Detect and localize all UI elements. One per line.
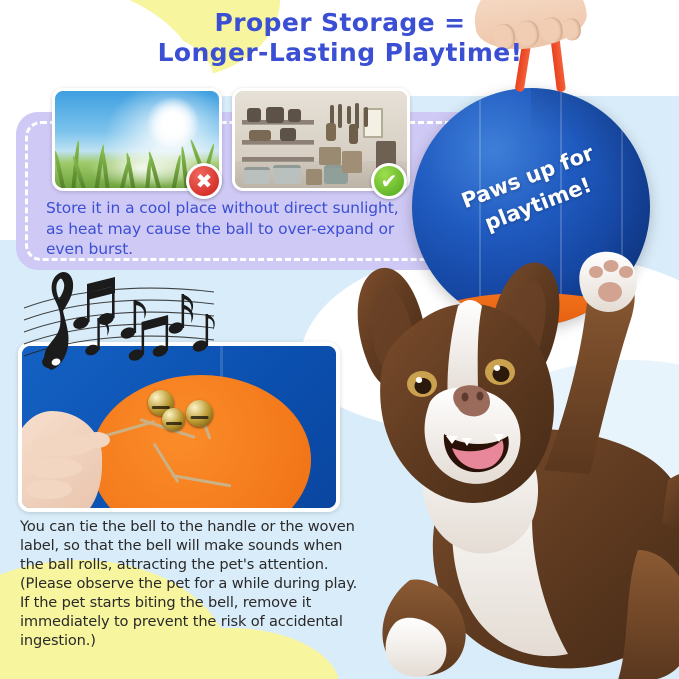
jumping-dog-photo xyxy=(318,250,679,679)
bell-icon-2 xyxy=(162,408,185,431)
page-title: Proper Storage = Longer-Lasting Playtime… xyxy=(120,8,560,67)
bell-icon-3 xyxy=(186,400,213,427)
page-title-line-1: Proper Storage = xyxy=(120,8,560,38)
page-title-line-2: Longer-Lasting Playtime! xyxy=(120,38,560,68)
music-notes-icon xyxy=(18,262,218,374)
check-icon-badge: ✔ xyxy=(371,163,407,199)
infographic-page: Proper Storage = Longer-Lasting Playtime… xyxy=(0,0,679,679)
cross-icon-badge: ✖ xyxy=(186,163,222,199)
